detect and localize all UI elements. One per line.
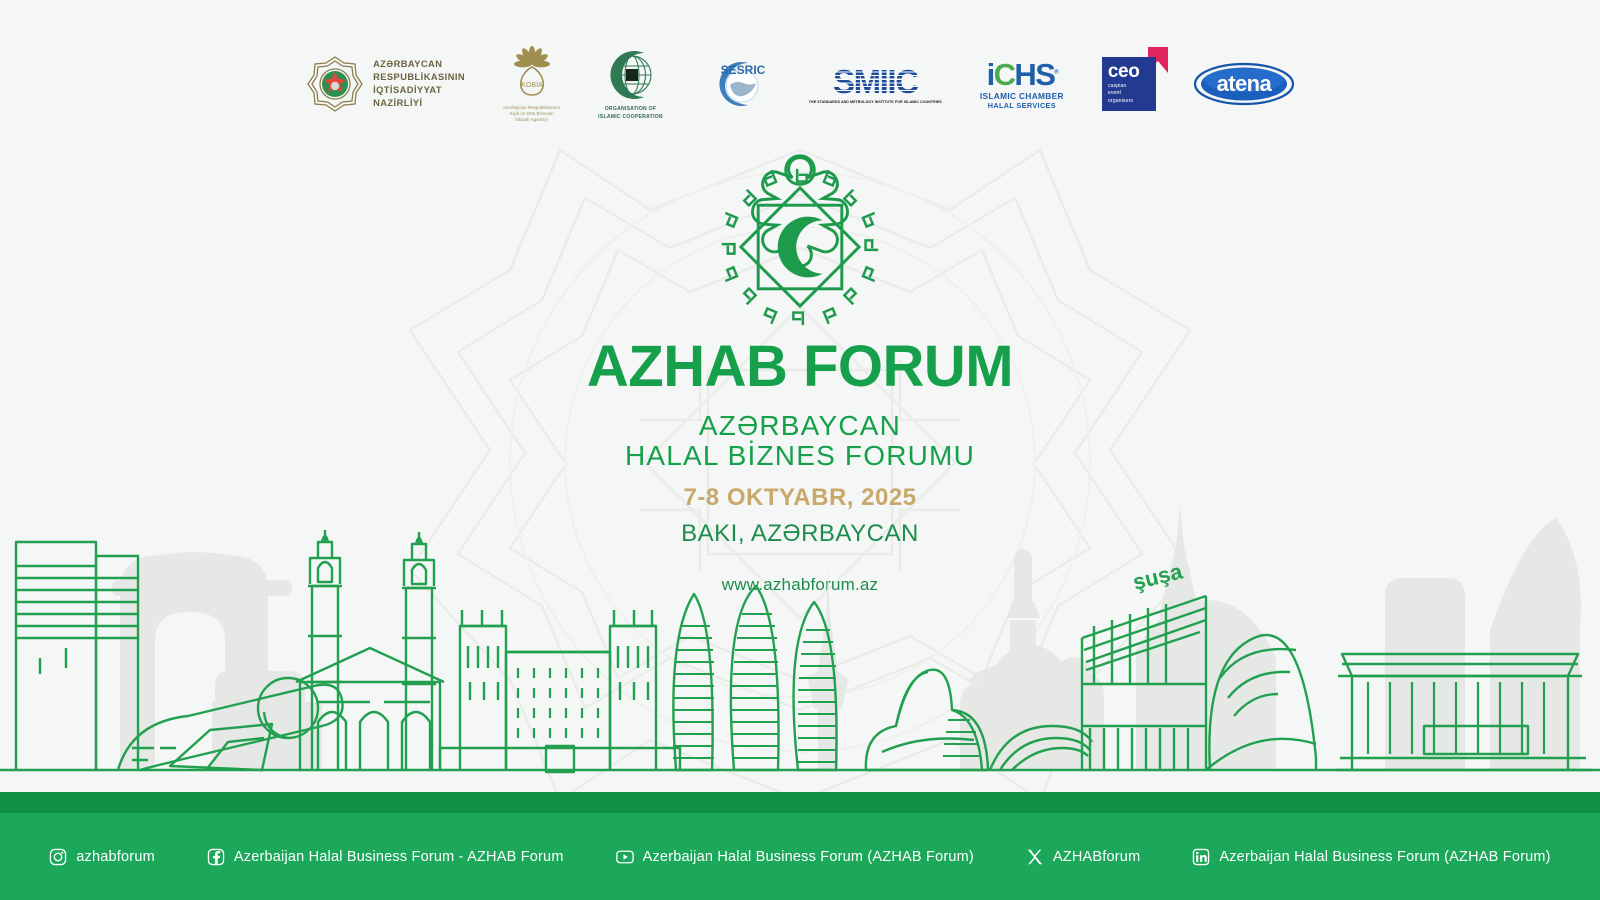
ceo-line-1: caspian: [1108, 83, 1156, 91]
oic-globe-crescent-icon: [602, 47, 658, 103]
footer-accent-band: [0, 792, 1600, 813]
poster-canvas: AZƏRBAYCAN RESPUBLİKASININ İQTİSADİYYAT …: [0, 0, 1600, 900]
azerbaijan-state-emblem-icon: [306, 55, 364, 113]
ichs-line-1: ISLAMIC CHAMBER: [980, 91, 1064, 101]
subtitle-line-1: AZƏRBAYCAN: [0, 411, 1600, 441]
smiic-wordmark: SMIIC: [833, 65, 918, 98]
svg-text:KOBİA: KOBİA: [521, 80, 543, 89]
ceo-line-2: event: [1108, 90, 1156, 98]
partner-logo-sesric: SESRIC: [701, 38, 771, 130]
ministry-line-4: NAZİRLİYİ: [373, 97, 465, 110]
atena-wordmark: atena: [1217, 71, 1271, 97]
partner-logo-ichs: iCHS® ISLAMIC CHAMBER HALAL SERVICES: [980, 38, 1064, 130]
event-date: 7-8 OKTYABR, 2025: [0, 483, 1600, 513]
sesric-crescent-globe-icon: SESRIC: [701, 55, 771, 113]
facebook-icon: [207, 848, 225, 866]
kobia-flower-icon: KOBİA: [505, 45, 559, 103]
ministry-line-2: RESPUBLİKASININ: [373, 71, 465, 84]
headline-block: AZHAB FORUM AZƏRBAYCAN HALAL BİZNES FORU…: [0, 338, 1600, 471]
page-title: AZHAB FORUM: [0, 338, 1600, 396]
social-link-x-twitter[interactable]: AZHABforum: [1026, 848, 1140, 866]
partner-logo-ministry-of-economy: AZƏRBAYCAN RESPUBLİKASININ İQTİSADİYYAT …: [306, 38, 465, 130]
event-location: BAKI, AZƏRBAYCAN: [0, 519, 1600, 549]
partner-logo-atena: atena: [1194, 38, 1294, 130]
x-twitter-icon: [1026, 848, 1044, 866]
smiic-tagline: THE STANDARDS AND METROLOGY INSTITUTE FO…: [809, 100, 942, 104]
ceo-line-3: organisers: [1108, 98, 1156, 106]
kobia-line-1: Azərbaycan Respublikasının: [503, 105, 560, 111]
crescent-moon-icon: [778, 217, 823, 278]
ichs-registered-mark: ®: [1054, 69, 1057, 75]
kobia-line-3: İnkişafı Agentliyi: [503, 117, 560, 123]
social-links-row: azhabforum Azerbaijan Halal Business For…: [0, 813, 1600, 900]
social-handle: AZHABforum: [1053, 849, 1140, 865]
social-link-facebook[interactable]: Azerbaijan Halal Business Forum - AZHAB …: [207, 848, 564, 866]
oic-line-2: ISLAMIC COOPERATION: [598, 114, 663, 121]
sesric-wordmark: SESRIC: [720, 63, 765, 77]
event-meta-block: 7-8 OKTYABR, 2025 BAKI, AZƏRBAYCAN www.a…: [0, 483, 1600, 595]
partner-logo-ceo: ceo caspian event organisers: [1102, 38, 1156, 130]
partner-logo-strip: AZƏRBAYCAN RESPUBLİKASININ İQTİSADİYYAT …: [0, 38, 1600, 130]
social-handle: Azerbaijan Halal Business Forum - AZHAB …: [234, 849, 564, 865]
social-handle: azhabforum: [76, 849, 155, 865]
oic-line-1: ORGANISATION OF: [598, 106, 663, 113]
youtube-icon: [616, 848, 634, 866]
ichs-line-2: HALAL SERVICES: [988, 101, 1056, 110]
social-link-linkedin[interactable]: Azerbaijan Halal Business Forum (AZHAB F…: [1192, 848, 1550, 866]
ceo-wordmark: ceo: [1108, 63, 1156, 81]
azhab-ornamental-crescent-emblem: [705, 152, 895, 342]
ichs-wordmark: iCHS®: [987, 59, 1058, 90]
social-handle: Azerbaijan Halal Business Forum (AZHAB F…: [1219, 849, 1550, 865]
social-handle: Azerbaijan Halal Business Forum (AZHAB F…: [643, 849, 974, 865]
subtitle-line-2: HALAL BİZNES FORUMU: [0, 441, 1600, 471]
linkedin-icon: [1192, 848, 1210, 866]
instagram-icon: [49, 848, 67, 866]
social-link-youtube[interactable]: Azerbaijan Halal Business Forum (AZHAB F…: [616, 848, 974, 866]
partner-logo-smiic: SMIIC THE STANDARDS AND METROLOGY INSTIT…: [809, 38, 942, 130]
ministry-line-1: AZƏRBAYCAN: [373, 58, 465, 71]
social-link-instagram[interactable]: azhabforum: [49, 848, 155, 866]
partner-logo-oic: ORGANISATION OF ISLAMIC COOPERATION: [598, 38, 663, 130]
ministry-line-3: İQTİSADİYYAT: [373, 84, 465, 97]
event-website[interactable]: www.azhabforum.az: [0, 575, 1600, 595]
partner-logo-kobia: KOBİA Azərbaycan Respublikasının Kiçik v…: [503, 38, 560, 130]
